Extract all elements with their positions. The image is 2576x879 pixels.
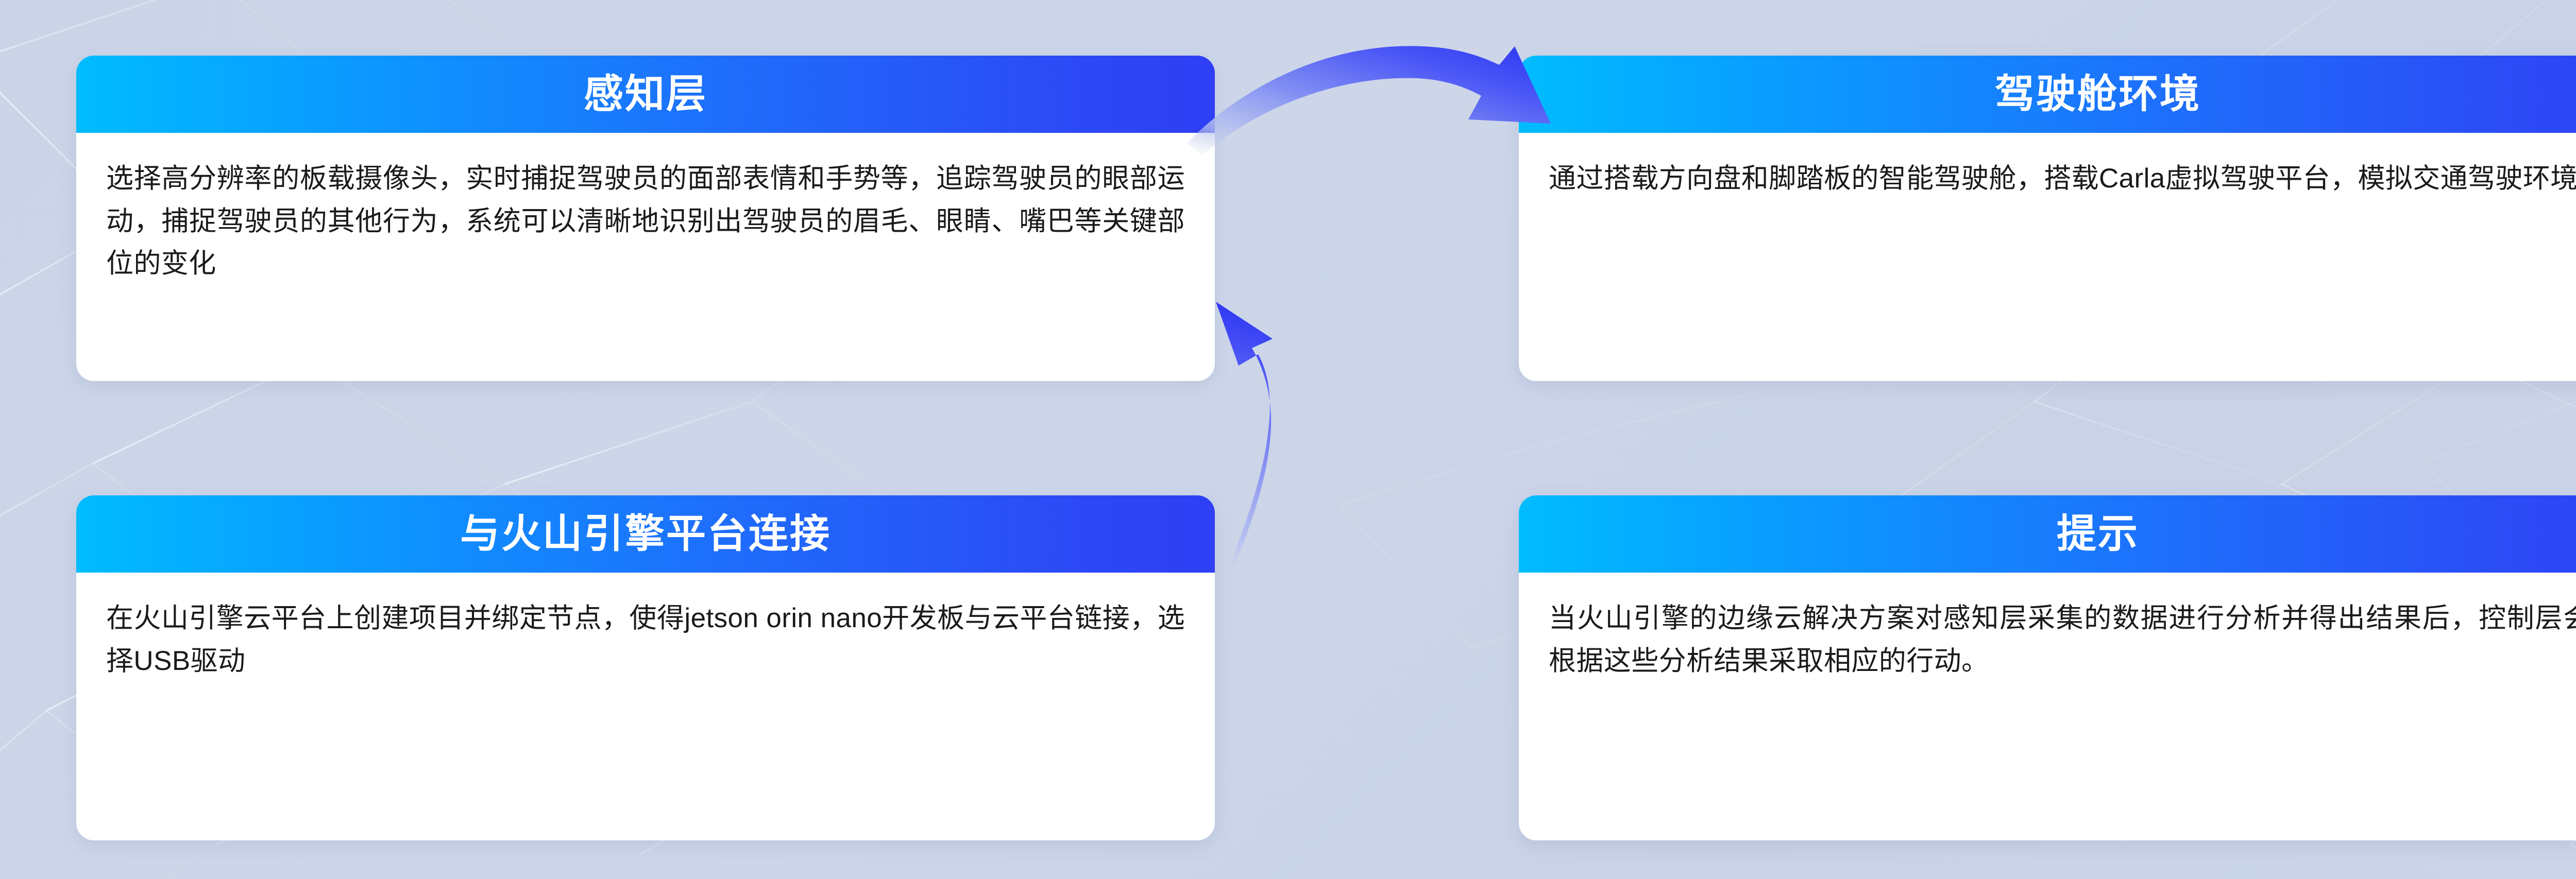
card-prompt-text: 当火山引擎的边缘云解决方案对感知层采集的数据进行分析并得出结果后，控制层会迅速根…	[1549, 597, 2576, 682]
card-cockpit-header: 驾驶舱环境	[1519, 56, 2576, 133]
card-volcano-connection-title: 与火山引擎平台连接	[460, 514, 831, 554]
card-cockpit-body: 通过搭载方向盘和脚踏板的智能驾驶舱，搭载Carla虚拟驾驶平台，模拟交通驾驶环境…	[1519, 133, 2576, 381]
card-prompt-title: 提示	[2057, 514, 2139, 554]
card-volcano-connection-text: 在火山引擎云平台上创建项目并绑定节点，使得jetson orin nano开发板…	[106, 597, 1185, 682]
card-prompt-body: 当火山引擎的边缘云解决方案对感知层采集的数据进行分析并得出结果后，控制层会迅速根…	[1519, 573, 2576, 840]
card-prompt[interactable]: 提示 当火山引擎的边缘云解决方案对感知层采集的数据进行分析并得出结果后，控制层会…	[1519, 495, 2576, 840]
card-perception-text: 选择高分辨率的板载摄像头，实时捕捉驾驶员的面部表情和手势等，追踪驾驶员的眼部运动…	[106, 158, 1185, 285]
card-perception[interactable]: 感知层 选择高分辨率的板载摄像头，实时捕捉驾驶员的面部表情和手势等，追踪驾驶员的…	[76, 56, 1215, 381]
card-cockpit-text: 通过搭载方向盘和脚踏板的智能驾驶舱，搭载Carla虚拟驾驶平台，模拟交通驾驶环境…	[1549, 158, 2576, 200]
arrow-up-left-icon	[1185, 299, 1391, 577]
card-perception-header: 感知层	[76, 56, 1215, 133]
arrow-right-icon	[1180, 10, 1571, 175]
card-perception-body: 选择高分辨率的板载摄像头，实时捕捉驾驶员的面部表情和手势等，追踪驾驶员的眼部运动…	[76, 133, 1215, 381]
card-perception-title: 感知层	[584, 75, 707, 114]
card-cockpit-title: 驾驶舱环境	[1995, 75, 2201, 114]
card-volcano-connection[interactable]: 与火山引擎平台连接 在火山引擎云平台上创建项目并绑定节点，使得jetson or…	[76, 495, 1215, 840]
card-volcano-connection-body: 在火山引擎云平台上创建项目并绑定节点，使得jetson orin nano开发板…	[76, 573, 1215, 840]
flow-diagram-canvas: 感知层 选择高分辨率的板载摄像头，实时捕捉驾驶员的面部表情和手势等，追踪驾驶员的…	[0, 0, 2576, 879]
card-volcano-connection-header: 与火山引擎平台连接	[76, 495, 1215, 573]
card-prompt-header: 提示	[1519, 495, 2576, 573]
card-cockpit[interactable]: 驾驶舱环境 通过搭载方向盘和脚踏板的智能驾驶舱，搭载Carla虚拟驾驶平台，模拟…	[1519, 56, 2576, 381]
